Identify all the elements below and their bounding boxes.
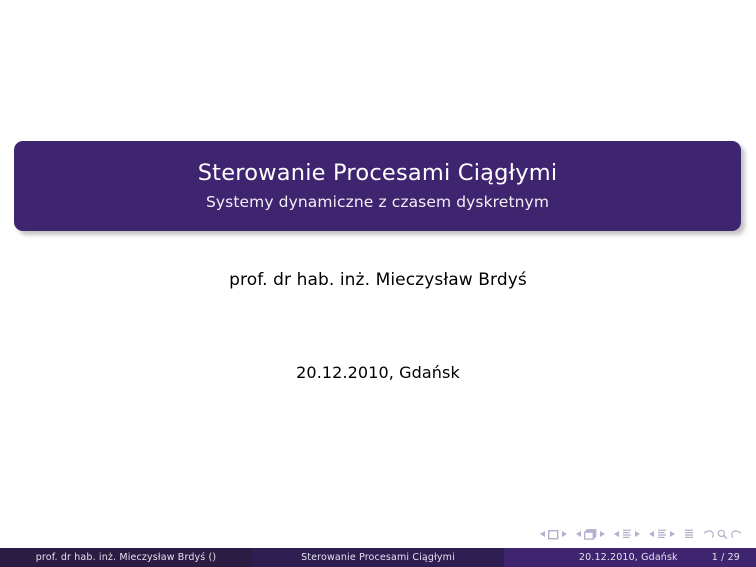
frame-icon[interactable] xyxy=(584,525,597,544)
prev-frame-icon[interactable] xyxy=(576,531,581,537)
footer-page-number: 1 / 29 xyxy=(712,552,740,563)
find-icon[interactable] xyxy=(717,525,728,544)
subsection-navigation-group[interactable] xyxy=(614,525,640,544)
document-navigation-group[interactable] xyxy=(684,525,694,544)
next-slide-icon[interactable] xyxy=(562,531,567,537)
footer-right: 20.12.2010, Gdańsk 1 / 29 xyxy=(504,548,756,567)
back-icon[interactable] xyxy=(703,525,714,544)
prev-slide-icon[interactable] xyxy=(540,531,545,537)
prev-section-icon[interactable] xyxy=(649,531,654,537)
next-frame-icon[interactable] xyxy=(600,531,605,537)
prev-subsection-icon[interactable] xyxy=(614,531,619,537)
footer-title: Sterowanie Procesami Ciągłymi xyxy=(252,548,504,567)
footer-date-and-place: 20.12.2010, Gdańsk xyxy=(579,552,678,563)
presentation-slide: Sterowanie Procesami Ciągłymi Systemy dy… xyxy=(0,0,756,567)
section-navigation-group[interactable] xyxy=(649,525,675,544)
slide-navigation-group[interactable] xyxy=(540,525,567,544)
title-block: Sterowanie Procesami Ciągłymi Systemy dy… xyxy=(14,141,741,231)
author-name: prof. dr hab. inż. Mieczysław Brdyś xyxy=(0,270,756,290)
section-icon[interactable] xyxy=(657,525,667,544)
footer-author: prof. dr hab. inż. Mieczysław Brdyś () xyxy=(0,548,252,567)
frame-navigation-group[interactable] xyxy=(576,525,605,544)
forward-icon[interactable] xyxy=(731,525,742,544)
page-subtitle: Systemy dynamiczne z czasem dyskretnym xyxy=(206,194,549,212)
page-title: Sterowanie Procesami Ciągłymi xyxy=(198,161,558,187)
beamer-navigation-bar[interactable] xyxy=(540,526,742,542)
footer-bar: prof. dr hab. inż. Mieczysław Brdyś () S… xyxy=(0,548,756,567)
history-navigation-group[interactable] xyxy=(703,525,742,544)
subsection-icon[interactable] xyxy=(622,525,632,544)
slide-icon[interactable] xyxy=(548,525,559,544)
title-block-body: Sterowanie Procesami Ciągłymi Systemy dy… xyxy=(14,141,741,231)
document-icon[interactable] xyxy=(684,525,694,544)
next-section-icon[interactable] xyxy=(670,531,675,537)
next-subsection-icon[interactable] xyxy=(635,531,640,537)
date-and-place: 20.12.2010, Gdańsk xyxy=(0,363,756,382)
